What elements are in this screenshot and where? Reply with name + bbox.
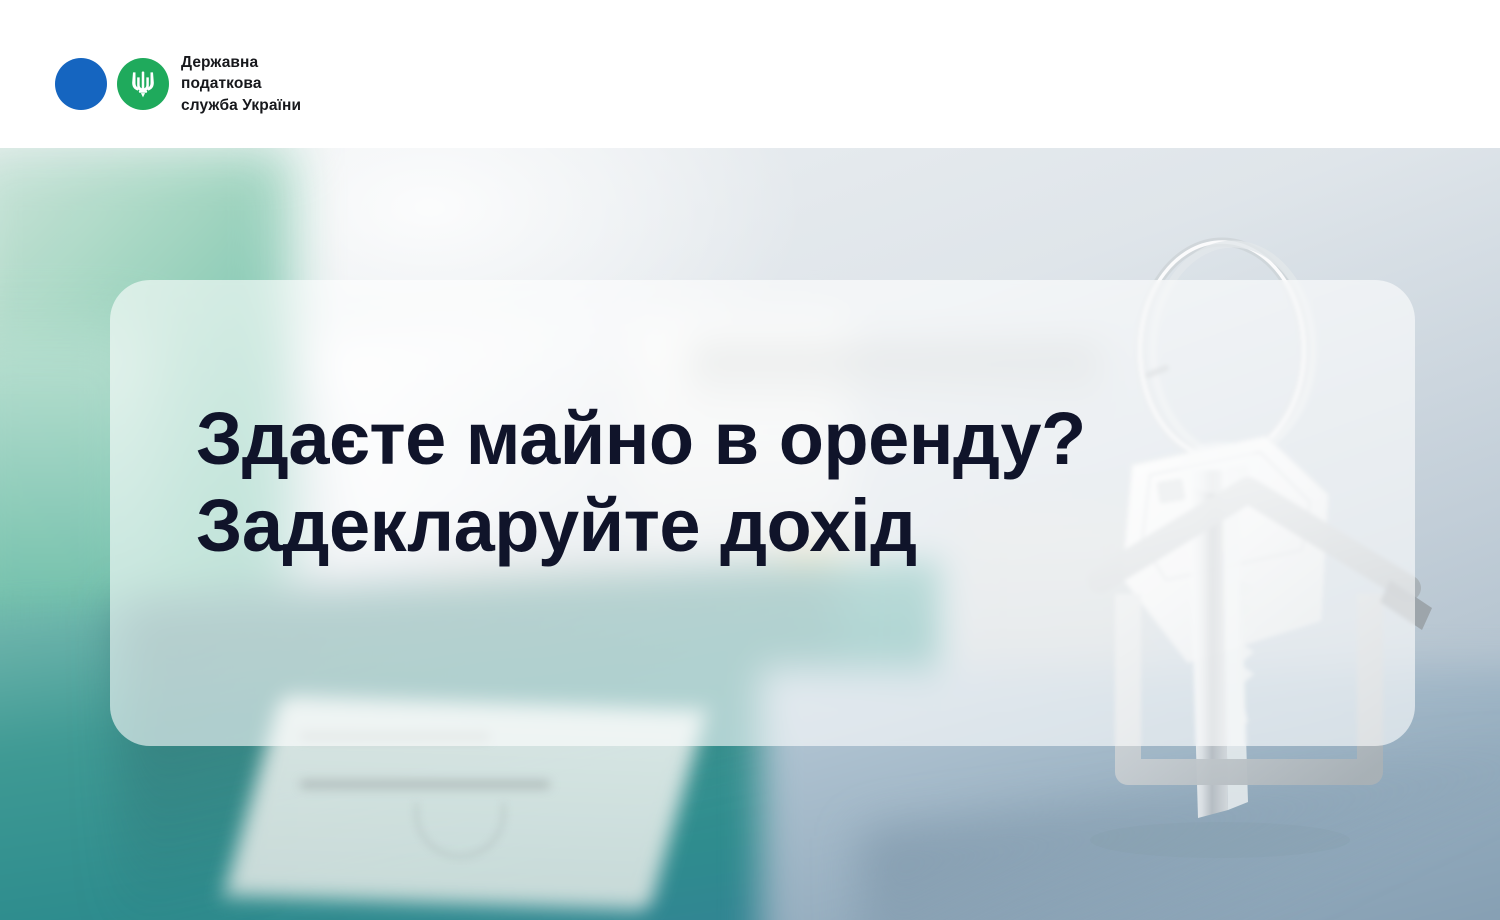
photo-paper-line [300,780,550,789]
poster-root: Здаєте майно в оренду? Задекларуйте дохі… [0,0,1500,920]
trident-icon [130,69,156,99]
blue-circle-icon [55,58,107,110]
page-title: Здаєте майно в оренду? Задекларуйте дохі… [196,396,1086,569]
green-circle-icon [117,58,169,110]
site-header: Державна податкова служба України [0,0,1500,148]
logo-organization-name: Державна податкова служба України [181,52,301,116]
logo-marks [55,58,169,110]
tax-service-logo[interactable]: Державна податкова служба України [55,52,301,116]
